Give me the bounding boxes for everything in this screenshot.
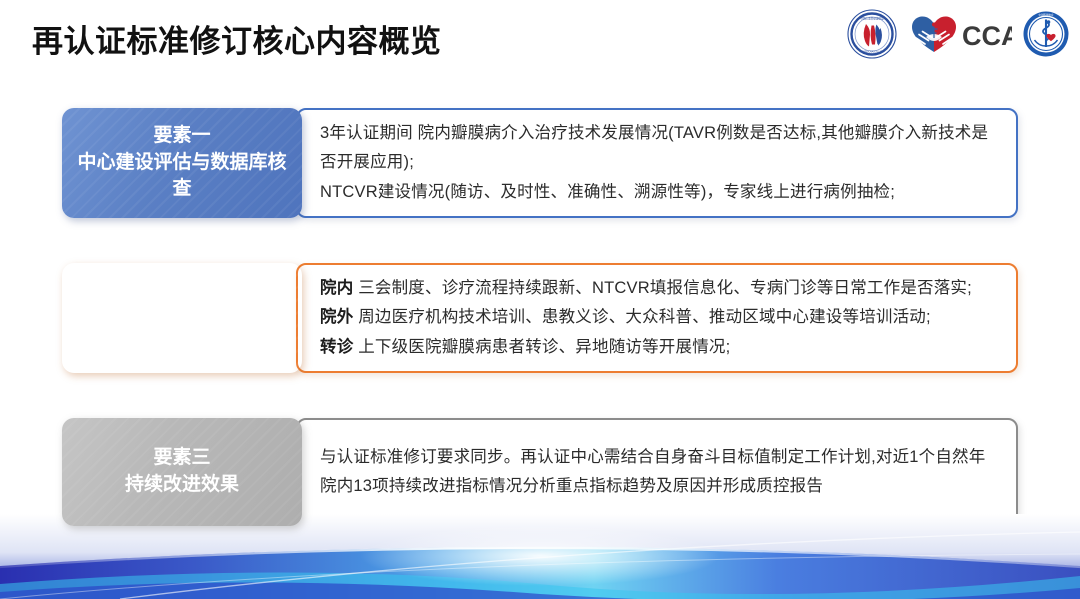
element-2-line-3-prefix: 转诊 [320, 338, 353, 356]
element-2-line-2-text: 周边医疗机构技术培训、患教义诊、大众科普、推动区域中心建设等培训活动; [353, 308, 930, 326]
element-2-line-1-prefix: 院内 [320, 279, 353, 297]
element-2-body: 院内 三会制度、诊疗流程持续跟新、NTCVR填报信息化、专病门诊等日常工作是否落… [320, 263, 1000, 373]
element-1-tag-subtitle: 中心建设评估与数据库核查 [76, 150, 288, 204]
element-1-body: 3年认证期间 院内瓣膜病介入治疗技术发展情况(TAVR例数是否达标,其他瓣膜介入… [320, 108, 1000, 218]
footer-decoration [0, 514, 1080, 599]
element-2-line-1-text: 三会制度、诊疗流程持续跟新、NTCVR填报信息化、专病门诊等日常工作是否落实; [353, 279, 972, 297]
element-3-tag-subtitle: 持续改进效果 [76, 472, 288, 499]
element-rows: 要素一 中心建设评估与数据库核查 3年认证期间 院内瓣膜病介入治疗技术发展情况(… [0, 0, 1080, 540]
element-3-body: 与认证标准修订要求同步。再认证中心需结合自身奋斗目标值制定工作计划,对近1个自然… [320, 418, 1000, 526]
element-2-line-2: 院外 周边医疗机构技术培训、患教义诊、大众科普、推动区域中心建设等培训活动; [320, 303, 1000, 332]
element-1-line-2-text: NTCVR建设情况(随访、及时性、准确性、溯源性等)，专家线上进行病例抽检; [320, 183, 895, 201]
element-3-line-1-text: 与认证标准修订要求同步。再认证中心需结合自身奋斗目标值制定工作计划,对近1个自然… [320, 448, 985, 495]
element-2-tag[interactable]: 要素二 常态化运行与管理 [62, 263, 302, 373]
element-1-line-1-text: 3年认证期间 院内瓣膜病介入治疗技术发展情况(TAVR例数是否达标,其他瓣膜介入… [320, 124, 988, 171]
element-1-tag[interactable]: 要素一 中心建设评估与数据库核查 [62, 108, 302, 218]
element-3-line-1: 与认证标准修订要求同步。再认证中心需结合自身奋斗目标值制定工作计划,对近1个自然… [320, 443, 1000, 502]
element-2-tag-subtitle: 常态化运行与管理 [76, 318, 288, 345]
element-2-line-1: 院内 三会制度、诊疗流程持续跟新、NTCVR填报信息化、专病门诊等日常工作是否落… [320, 274, 1000, 303]
element-1-line-2: NTCVR建设情况(随访、及时性、准确性、溯源性等)，专家线上进行病例抽检; [320, 178, 1000, 207]
element-row-2: 要素二 常态化运行与管理 院内 三会制度、诊疗流程持续跟新、NTCVR填报信息化… [62, 263, 1018, 373]
element-3-tag[interactable]: 要素三 持续改进效果 [62, 418, 302, 526]
element-2-line-2-prefix: 院外 [320, 308, 353, 326]
element-row-3: 要素三 持续改进效果 与认证标准修订要求同步。再认证中心需结合自身奋斗目标值制定… [62, 418, 1018, 526]
element-row-1: 要素一 中心建设评估与数据库核查 3年认证期间 院内瓣膜病介入治疗技术发展情况(… [62, 108, 1018, 218]
element-2-tag-title: 要素二 [153, 291, 210, 318]
element-1-line-1: 3年认证期间 院内瓣膜病介入治疗技术发展情况(TAVR例数是否达标,其他瓣膜介入… [320, 119, 1000, 178]
element-2-line-3-text: 上下级医院瓣膜病患者转诊、异地随访等开展情况; [353, 338, 730, 356]
element-3-tag-title: 要素三 [153, 445, 210, 472]
element-1-tag-title: 要素一 [153, 123, 210, 150]
element-2-line-3: 转诊 上下级医院瓣膜病患者转诊、异地随访等开展情况; [320, 333, 1000, 362]
